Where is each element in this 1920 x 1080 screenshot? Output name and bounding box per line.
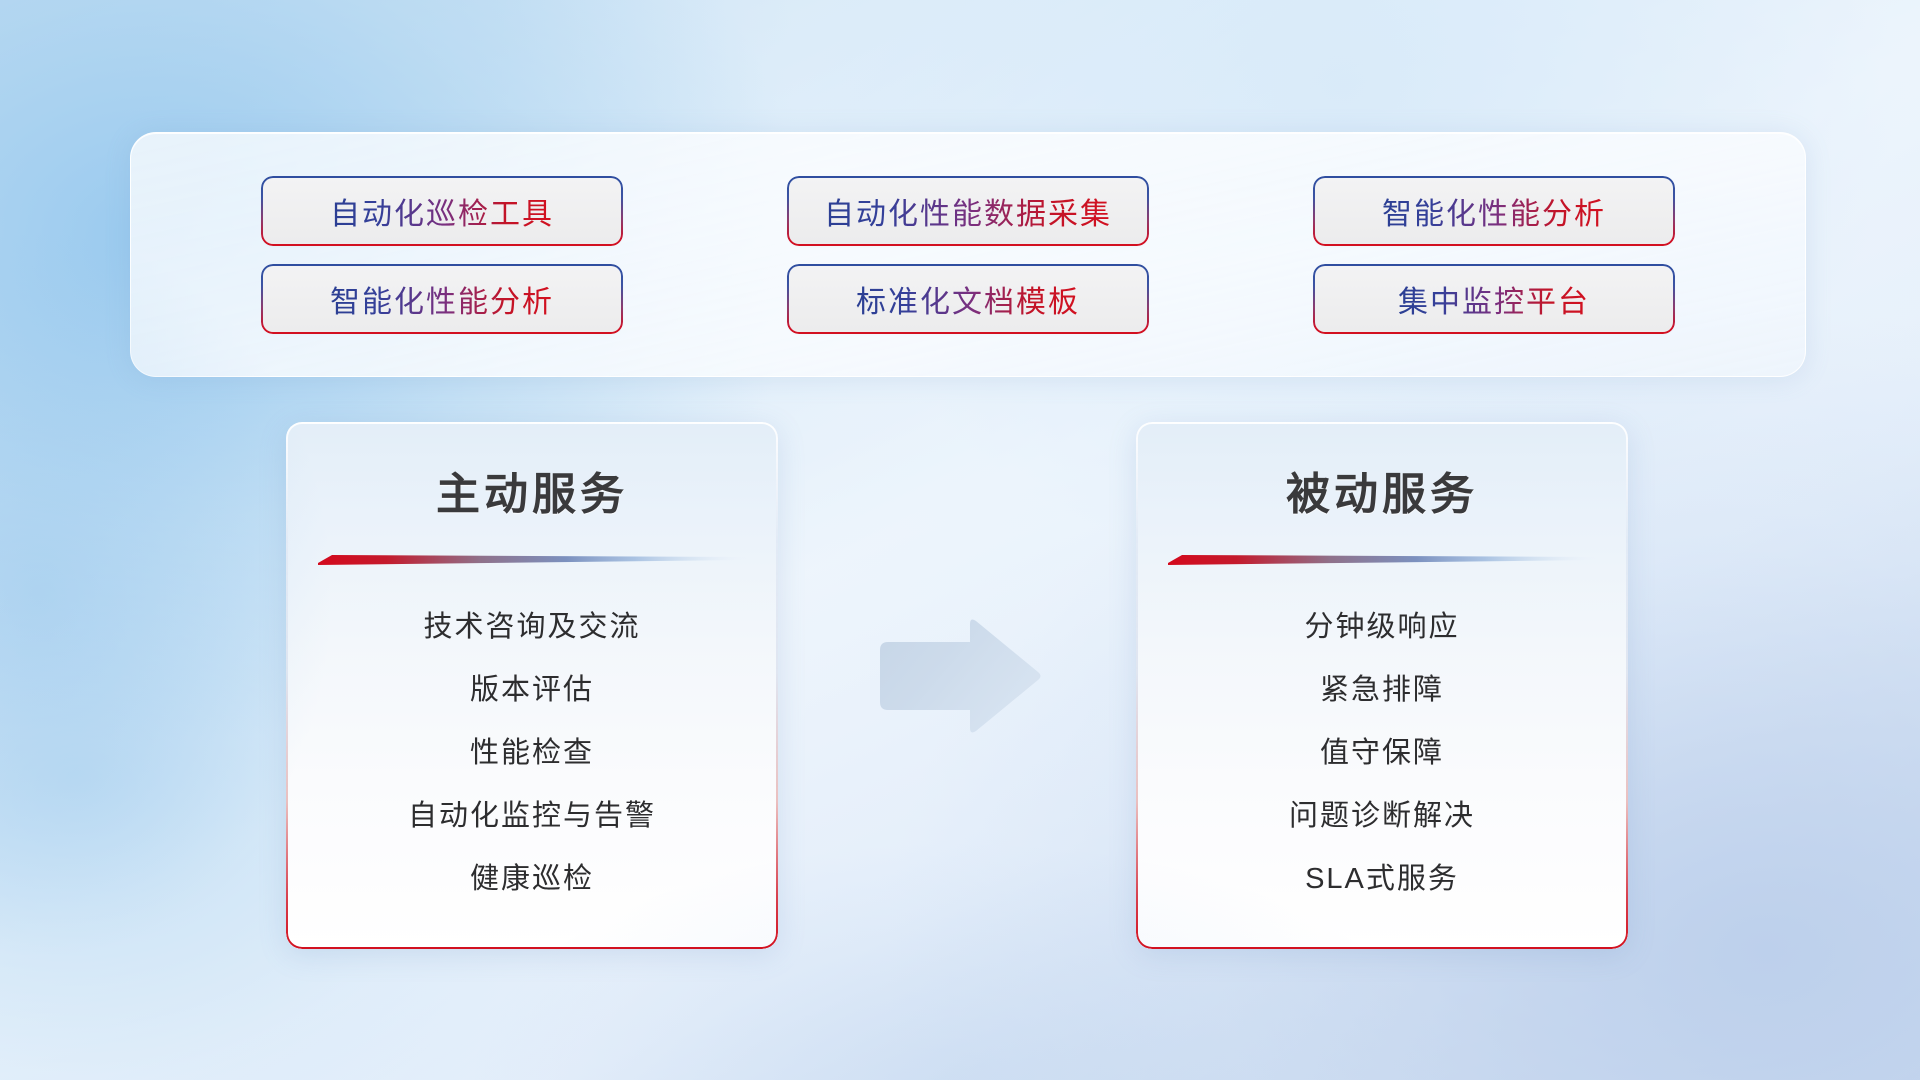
capability-tag-automation-inspection-tool[interactable]: 自动化巡检工具 [263, 178, 621, 244]
list-item: 技术咨询及交流 [423, 596, 640, 659]
list-item: 分钟级响应 [1304, 596, 1459, 659]
capability-tag-label: 智能化性能分析 [1382, 189, 1606, 233]
card-title: 主动服务 [286, 458, 778, 522]
list-item: 自动化监控与告警 [408, 785, 656, 848]
capability-panel: 自动化巡检工具 自动化性能数据采集 智能化性能分析 智能化性能分析 标准化文档模… [130, 132, 1806, 377]
capability-tag-standardized-document-template[interactable]: 标准化文档模板 [789, 266, 1147, 332]
service-card-reactive[interactable]: 被动服务 分钟级响应 紧急排障 [1136, 422, 1628, 949]
capability-tag-label: 智能化性能分析 [330, 277, 554, 321]
slide-canvas: 自动化巡检工具 自动化性能数据采集 智能化性能分析 智能化性能分析 标准化文档模… [0, 0, 1920, 1080]
capability-row-2: 智能化性能分析 标准化文档模板 集中监控平台 [131, 266, 1805, 332]
capability-tag-label: 集中监控平台 [1398, 277, 1590, 321]
capability-tag-label: 标准化文档模板 [856, 277, 1080, 321]
capability-tag-intelligent-performance-analysis-2[interactable]: 智能化性能分析 [263, 266, 621, 332]
card-item-list: 分钟级响应 紧急排障 值守保障 问题诊断解决 SLA式服务 [1136, 596, 1628, 911]
capability-tag-label: 自动化性能数据采集 [824, 189, 1112, 233]
list-item: 值守保障 [1320, 722, 1444, 785]
capability-tag-intelligent-performance-analysis[interactable]: 智能化性能分析 [1315, 178, 1673, 244]
capability-tag-centralized-monitoring-platform[interactable]: 集中监控平台 [1315, 266, 1673, 332]
service-card-proactive[interactable]: 主动服务 技术咨询及交流 版本评估 [286, 422, 778, 949]
gradient-divider-icon [1168, 552, 1596, 566]
right-arrow-icon [872, 618, 1042, 736]
list-item: 问题诊断解决 [1289, 785, 1475, 848]
gradient-divider-icon [318, 552, 746, 566]
list-item: 性能检查 [470, 722, 594, 785]
list-item: 健康巡检 [470, 848, 594, 911]
capability-row-1: 自动化巡检工具 自动化性能数据采集 智能化性能分析 [131, 178, 1805, 244]
card-title: 被动服务 [1136, 458, 1628, 522]
capability-tag-automated-performance-data-collection[interactable]: 自动化性能数据采集 [789, 178, 1147, 244]
capability-tag-label: 自动化巡检工具 [330, 189, 554, 233]
card-item-list: 技术咨询及交流 版本评估 性能检查 自动化监控与告警 健康巡检 [286, 596, 778, 911]
list-item: SLA式服务 [1305, 848, 1459, 911]
list-item: 紧急排障 [1320, 659, 1444, 722]
list-item: 版本评估 [470, 659, 594, 722]
